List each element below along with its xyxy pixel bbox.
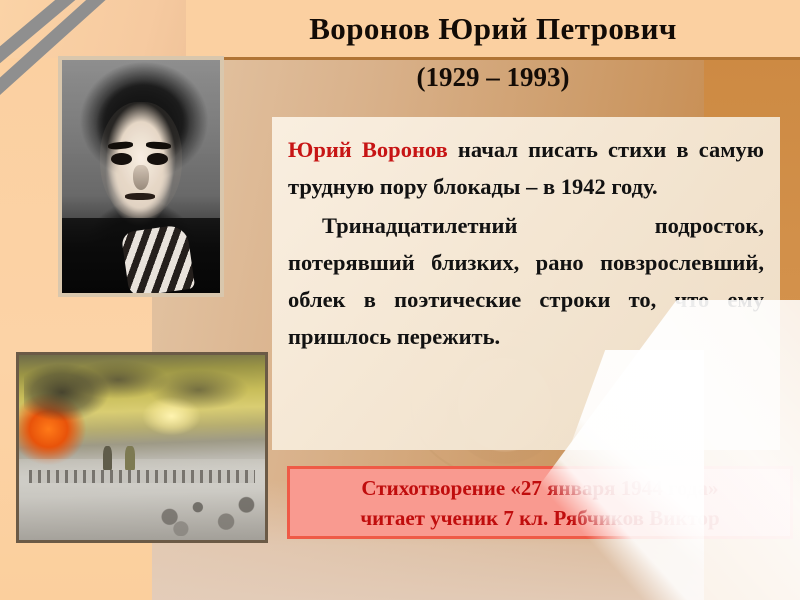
presentation-slide: Воронов Юрий Петрович (1929 – 1993) xyxy=(0,0,800,600)
painting-bridge-railing xyxy=(29,470,255,483)
poet-name-highlight: Юрий Воронов xyxy=(288,137,448,162)
portrait-photo xyxy=(58,56,224,297)
portrait-eye-right xyxy=(147,153,168,165)
painting-figure-two xyxy=(125,446,135,470)
title-bar: Воронов Юрий Петрович xyxy=(186,0,800,60)
page-title: Воронов Юрий Петрович xyxy=(309,11,677,47)
siege-painting xyxy=(16,352,268,543)
painting-smoke-right xyxy=(132,362,265,418)
portrait-photo-image xyxy=(62,60,220,293)
portrait-eye-left xyxy=(111,153,132,165)
page-subtitle-years: (1929 – 1993) xyxy=(186,62,800,93)
biography-paragraph-one: Юрий Воронов начал писать стихи в самую … xyxy=(288,131,764,205)
painting-figure-one xyxy=(103,446,113,470)
painting-rubble xyxy=(147,488,260,536)
siege-painting-image xyxy=(19,355,265,540)
portrait-mouth xyxy=(125,193,155,200)
portrait-scarf xyxy=(121,223,196,297)
